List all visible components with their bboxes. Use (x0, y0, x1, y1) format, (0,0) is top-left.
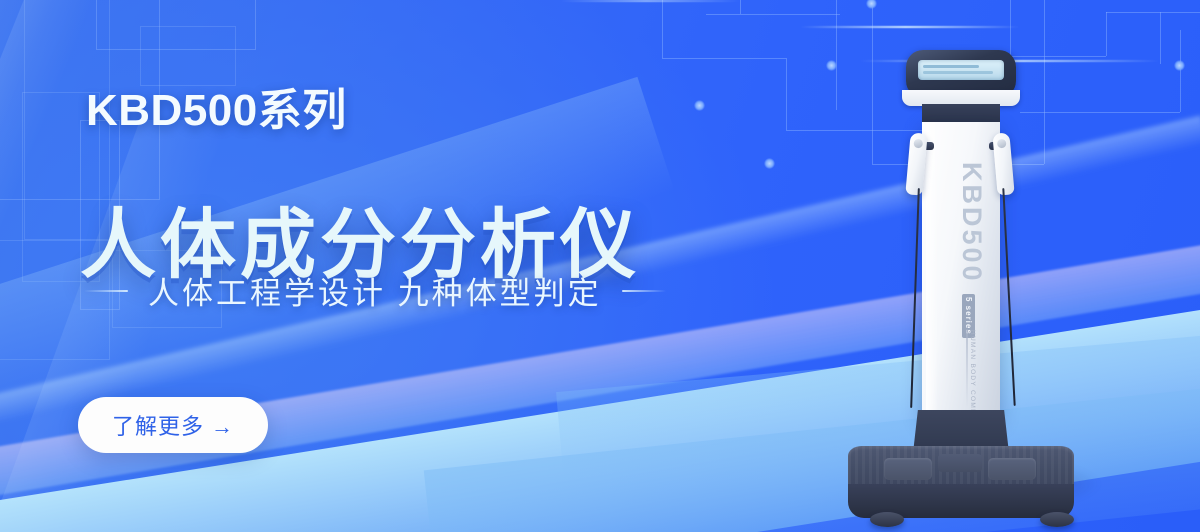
device-foot-left (870, 512, 904, 527)
decor-circuit-node (866, 0, 877, 9)
handle-button-icon (997, 139, 1007, 149)
decor-circuit-line (1160, 12, 1161, 64)
device-brand-label: KBD500 (956, 162, 987, 284)
divider-dash-left (84, 290, 128, 292)
decor-circuit-line (1180, 30, 1181, 112)
device-foot-electrode-left (884, 458, 932, 480)
device-screen (918, 60, 1004, 80)
banner-subtitle-row: 人体工程学设计 九种体型判定 (84, 268, 666, 313)
device-foot-electrode-right (988, 458, 1036, 480)
handle-button-icon (913, 139, 923, 149)
product-image-body-composition-analyzer: KBD500 5 series HUMAN BODY COMPOSITION A… (840, 38, 1110, 532)
banner-subtitle: 人体工程学设计 九种体型判定 (148, 268, 602, 313)
decor-circuit-node (826, 60, 837, 71)
device-cable-right (1002, 188, 1015, 406)
device-column: KBD500 5 series HUMAN BODY COMPOSITION A… (922, 122, 1000, 418)
decor-circuit-line (836, 0, 837, 110)
banner-eyebrow: KBD500系列 (86, 74, 347, 138)
decor-glow-streak (800, 26, 1020, 28)
decor-circuit-line (740, 0, 741, 14)
decor-circuit-node (764, 158, 775, 169)
hero-banner: KBD500系列 人体成分分析仪 人体工程学设计 九种体型判定 了解更多 → K… (0, 0, 1200, 532)
banner-content: KBD500系列 人体成分分析仪 人体工程学设计 九种体型判定 了解更多 → (0, 0, 700, 532)
decor-circuit-line (706, 14, 840, 15)
decor-circuit-line (1106, 12, 1200, 13)
device-cable-left (910, 188, 920, 408)
divider-dash-right (622, 290, 666, 292)
device-foot-right (1040, 512, 1074, 527)
device-neck (922, 104, 1000, 124)
device-center-plate (938, 454, 982, 472)
device-rule (966, 330, 968, 408)
device-column-labels: KBD500 5 series HUMAN BODY COMPOSITION A… (922, 122, 1000, 418)
learn-more-button[interactable]: 了解更多 → (78, 397, 268, 453)
decor-circuit-node (1174, 60, 1185, 71)
decor-circuit-line (786, 58, 787, 130)
